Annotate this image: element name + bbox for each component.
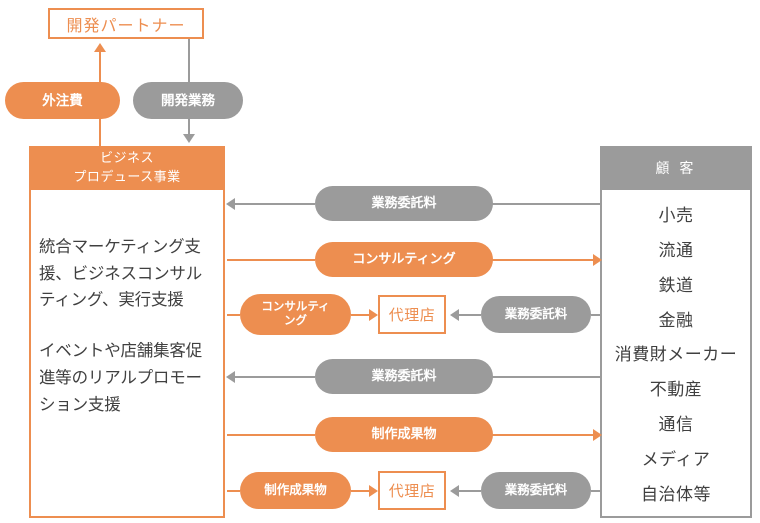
development-work-label: 開発業務 [161,93,215,109]
fee-row6-label: 業務委託料 [505,483,568,497]
customer-item-finance: 金融 [659,306,694,331]
fee-row1-pill[interactable]: 業務委託料 [315,186,493,221]
consulting-row2-pill[interactable]: コンサルティング [315,242,493,277]
agency-box-upper[interactable]: 代理店 [378,295,446,334]
consulting-row3-line-left [227,314,240,316]
consulting-row2-label: コンサルティング [352,252,455,267]
fee-row3-line-left [459,314,481,316]
consulting-agency-label-line2: ング [261,315,329,328]
customer-item-telecom: 通信 [659,410,694,435]
deliverable-row5-line-left [227,434,315,436]
outsourcing-cost-pill[interactable]: 外注費 [5,82,120,119]
fee-row1-arrowhead-icon [226,198,235,210]
customer-panel-title: 顧 客 [656,158,697,178]
business-flow-diagram: 開発パートナー 外注費 開発業務 ビジネス プロデュース事業 統合マーケティング… [0,0,760,523]
fee-row1-line-left [235,203,315,205]
fee-row4-label: 業務委託料 [371,369,436,384]
fee-row6-arrowhead-icon [450,485,459,497]
customer-panel-header: 顧 客 [600,146,752,190]
fee-row1-line-right [492,203,602,205]
business-produce-title-line1: ビジネス [100,149,154,168]
consulting-row2-line-right [492,259,594,261]
fee-row4-pill[interactable]: 業務委託料 [315,359,493,394]
business-produce-paragraph-1: 統合マーケティング支援、ビジネスコンサルティング、実行支援 [39,234,215,314]
consulting-agency-label-line1: コンサルティ [261,301,329,314]
customer-industry-list: 小売 流通 鉄道 金融 消費財メーカー 不動産 通信 メディア 自治体等 [602,192,750,516]
fee-row4-arrowhead-icon [226,371,235,383]
customer-item-real-estate: 不動産 [650,375,703,400]
fee-row3-pill[interactable]: 業務委託料 [481,296,591,333]
agency-lower-label: 代理店 [389,480,436,501]
consulting-row2-arrowhead-icon [593,254,602,266]
outsourcing-cost-label: 外注費 [42,93,83,109]
customer-item-distribution: 流通 [659,236,694,261]
fee-row6-line-right [591,490,602,492]
customer-item-railway: 鉄道 [659,271,694,296]
fee-row4-line-right [492,376,602,378]
business-produce-paragraph-2: イベントや店舗集客促進等のリアルプロモーション支援 [39,338,215,418]
customer-item-government: 自治体等 [641,480,711,505]
outsourcing-cost-arrowhead-icon [94,43,106,52]
consulting-row3-arrowhead-icon [369,309,378,321]
fee-row6-pill[interactable]: 業務委託料 [481,472,591,509]
deliverable-row5-line-right [492,434,594,436]
consulting-row3-line-mid [351,314,369,316]
deliverable-row6-line-left [227,490,240,492]
deliverable-agency-pill[interactable]: 制作成果物 [240,472,351,509]
fee-row4-line-left [235,376,315,378]
deliverable-agency-label: 制作成果物 [264,483,327,497]
fee-row1-label: 業務委託料 [371,196,436,211]
agency-box-lower[interactable]: 代理店 [378,471,446,510]
consulting-row2-line-left [227,259,315,261]
customer-item-media: メディア [642,445,711,470]
development-work-pill[interactable]: 開発業務 [133,82,243,119]
customer-item-consumer-goods: 消費財メーカー [615,340,738,365]
fee-row3-arrowhead-icon [450,309,459,321]
deliverable-row5-label: 制作成果物 [371,427,436,442]
agency-upper-label: 代理店 [389,304,436,325]
consulting-agency-pill[interactable]: コンサルティ ング [240,294,351,335]
customer-panel[interactable]: 顧 客 小売 流通 鉄道 金融 消費財メーカー 不動産 通信 メディア 自治体等 [600,146,752,518]
deliverable-row6-line-mid [351,490,369,492]
development-work-arrowhead-icon [183,134,195,143]
business-produce-panel[interactable]: ビジネス プロデュース事業 統合マーケティング支援、ビジネスコンサルティング、実… [29,146,225,518]
business-produce-title-line2: プロデュース事業 [73,168,180,187]
development-partner-box[interactable]: 開発パートナー [48,8,204,39]
fee-row6-line-left [459,490,481,492]
business-produce-body: 統合マーケティング支援、ビジネスコンサルティング、実行支援 イベントや店舗集客促… [31,192,223,516]
development-partner-label: 開発パートナー [66,12,185,36]
deliverable-row5-arrowhead-icon [593,429,602,441]
business-produce-header: ビジネス プロデュース事業 [29,146,225,190]
fee-row3-label: 業務委託料 [505,307,568,321]
fee-row3-line-right [591,314,602,316]
deliverable-row6-arrowhead-icon [369,485,378,497]
deliverable-row5-pill[interactable]: 制作成果物 [315,417,493,452]
customer-item-retail: 小売 [659,201,694,226]
